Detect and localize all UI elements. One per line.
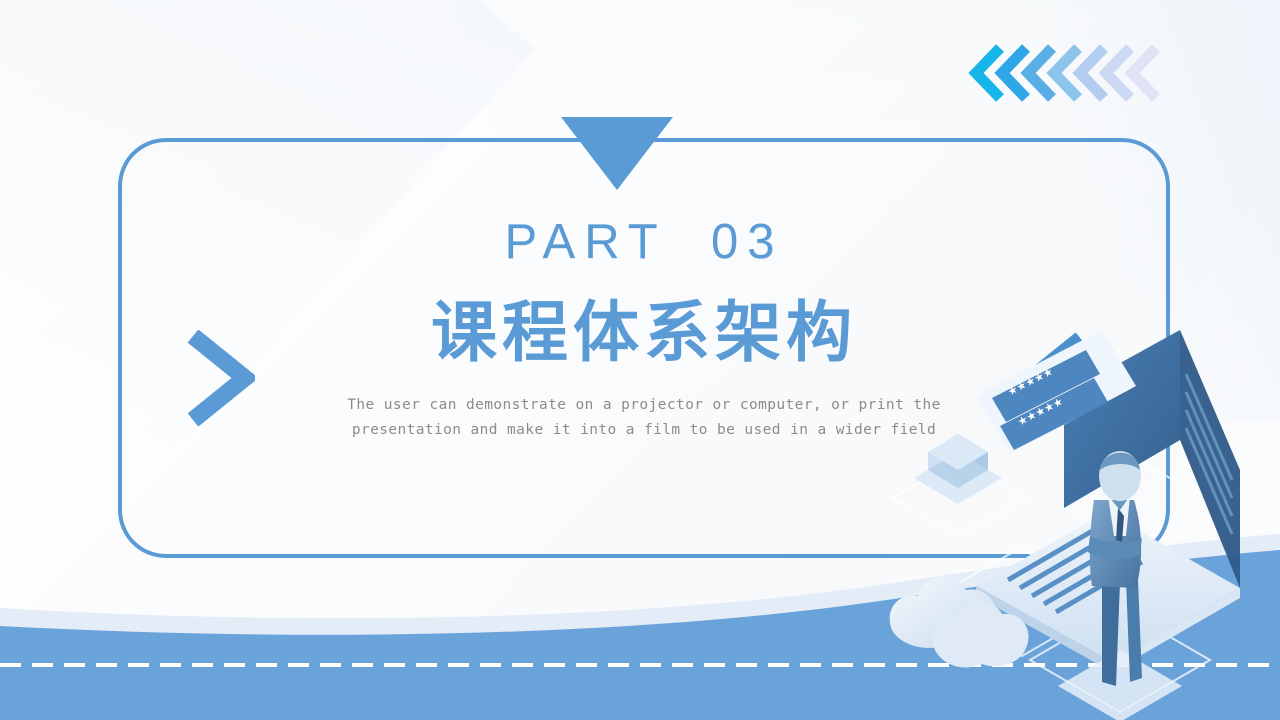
page-title: 课程体系架构 — [431, 295, 857, 371]
slide-canvas: ★★★★★ ★★★★★ — [0, 0, 1280, 720]
part-label: PART 03 — [504, 218, 783, 267]
chevron-left-cluster-icon — [968, 42, 1168, 104]
text-content-block: PART 03 课程体系架构 The user can demonstrate … — [118, 138, 1170, 558]
subtitle-text: The user can demonstrate on a projector … — [324, 393, 964, 443]
